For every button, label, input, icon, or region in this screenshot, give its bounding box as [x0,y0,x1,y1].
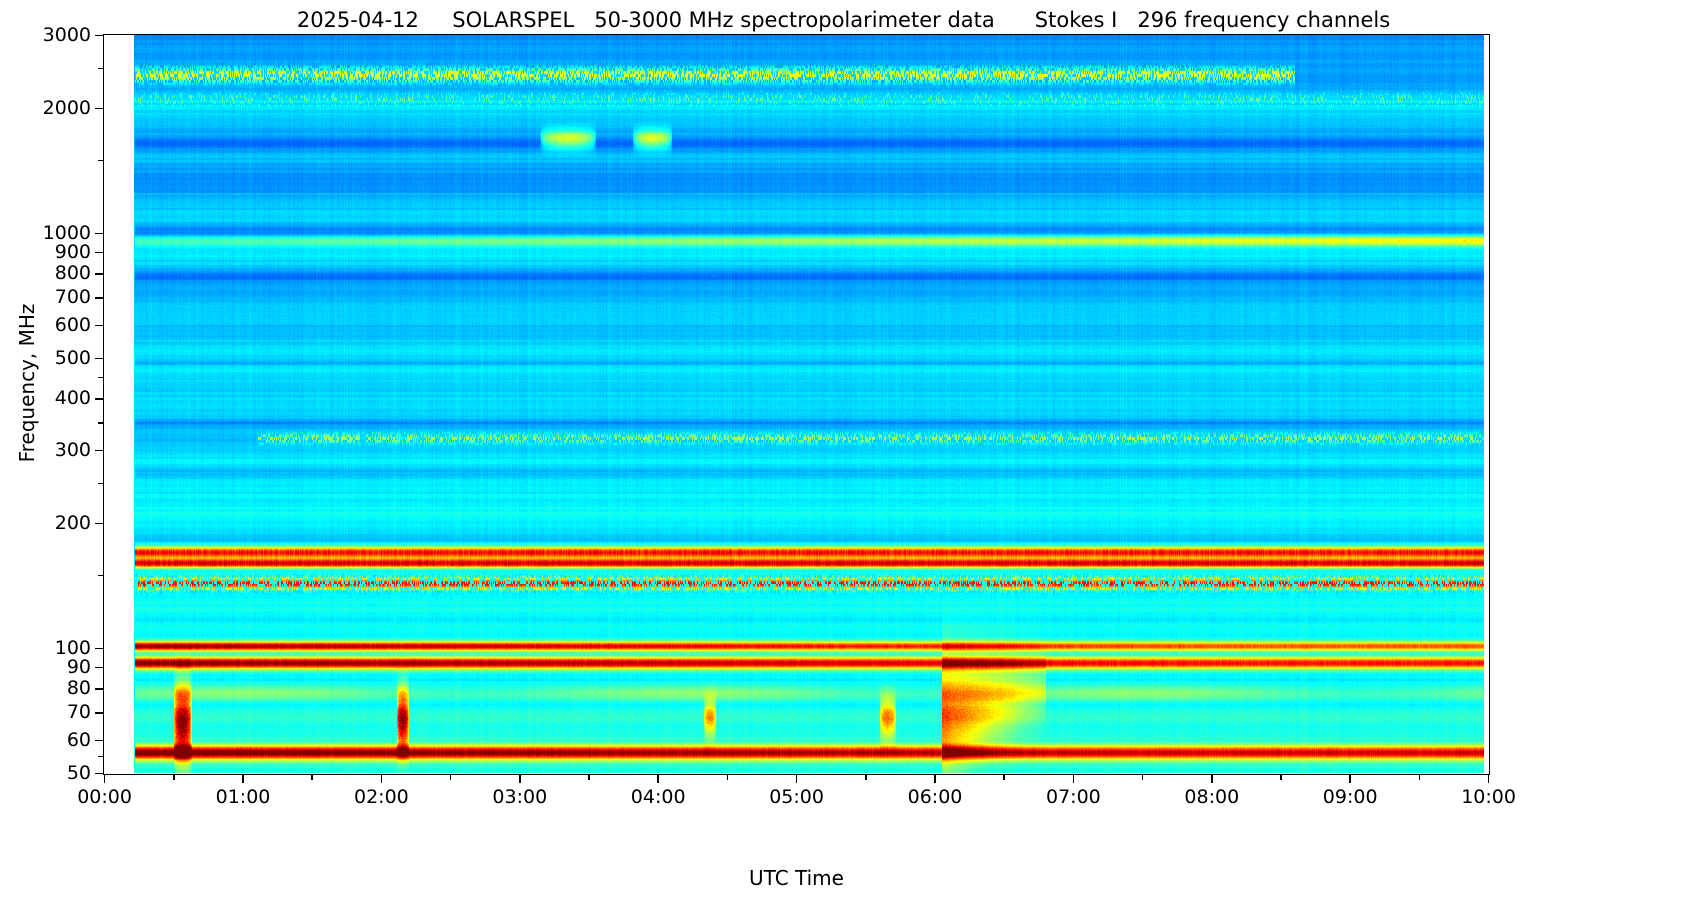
x-axis-tick-label: 01:00 [188,786,298,808]
y-axis-tick-label: 800 [0,262,91,284]
y-axis-tick-mark [95,297,103,299]
x-axis-tick-mark [104,775,106,783]
y-axis-tick-label: 2000 [0,97,91,119]
y-axis-tick-label: 70 [0,701,91,723]
x-axis-tick-mark [381,775,383,783]
spectrogram-figure: 2025-04-12 SOLARSPEL 50-3000 MHz spectro… [0,0,1687,906]
y-axis-tick-label: 80 [0,677,91,699]
x-axis-tick-label: 00:00 [50,786,160,808]
y-axis-tick-mark [95,398,103,400]
x-axis-tick-mark [519,775,521,783]
x-axis-tick-label: 08:00 [1157,786,1267,808]
x-axis-tick-label: 10:00 [1434,786,1544,808]
x-axis-tick-label: 09:00 [1295,786,1405,808]
y-axis-tick-label: 400 [0,387,91,409]
x-axis-tick-mark [934,775,936,783]
x-axis-tick-label: 03:00 [465,786,575,808]
x-axis-tick-mark [588,775,590,780]
x-axis-tick-mark [1073,775,1075,783]
y-axis-tick-mark [95,450,103,452]
y-axis-tick-mark [95,688,103,690]
x-axis-tick-label: 02:00 [326,786,436,808]
page-title: 2025-04-12 SOLARSPEL 50-3000 MHz spectro… [0,8,1687,32]
y-axis-tick-label: 3000 [0,24,91,46]
y-axis-tick-mark [95,712,103,714]
x-axis-tick-label: 06:00 [880,786,990,808]
y-axis-tick-mark [95,667,103,669]
y-axis-tick-label: 500 [0,347,91,369]
y-axis-tick-mark [95,773,103,775]
y-axis-tick-mark [95,325,103,327]
y-axis-tick-label: 60 [0,729,91,751]
y-axis-tick-mark [95,233,103,235]
y-axis-tick-label: 600 [0,314,91,336]
spectrogram-plot-area[interactable] [103,34,1490,775]
x-axis-tick-mark [1211,775,1213,783]
y-axis-tick-mark [95,273,103,275]
y-axis-tick-mark [95,648,103,650]
x-axis-tick-mark [1003,775,1005,780]
x-axis-tick-mark [1488,775,1490,783]
x-axis-tick-label: 05:00 [742,786,852,808]
y-axis-tick-mark [95,108,103,110]
x-axis-tick-mark [865,775,867,780]
x-axis-tick-mark [242,775,244,783]
title-text: 2025-04-12 SOLARSPEL 50-3000 MHz spectro… [297,8,1390,32]
x-axis-tick-mark [173,775,175,780]
y-axis-tick-label: 90 [0,656,91,678]
y-axis-tick-mark [95,740,103,742]
x-axis-tick-mark [1419,775,1421,780]
x-axis-tick-mark [1142,775,1144,780]
y-axis-tick-label: 900 [0,241,91,263]
y-axis-tick-label: 50 [0,762,91,784]
x-axis-tick-mark [1349,775,1351,783]
y-axis-tick-mark [95,35,103,37]
y-axis-tick-mark [95,358,103,360]
y-axis-tick-label: 700 [0,286,91,308]
y-axis-tick-label: 300 [0,439,91,461]
dynamic-spectrum-image [104,35,1488,773]
x-axis-tick-mark [796,775,798,783]
y-axis-tick-mark [95,252,103,254]
x-axis-label: UTC Time [103,866,1490,890]
x-axis-tick-label: 04:00 [603,786,713,808]
y-axis-tick-mark [95,523,103,525]
y-axis-tick-label: 200 [0,512,91,534]
x-axis-tick-mark [450,775,452,780]
x-axis-tick-mark [727,775,729,780]
x-axis-tick-mark [1280,775,1282,780]
x-axis-tick-mark [311,775,313,780]
x-axis-tick-mark [657,775,659,783]
x-axis-tick-label: 07:00 [1018,786,1128,808]
